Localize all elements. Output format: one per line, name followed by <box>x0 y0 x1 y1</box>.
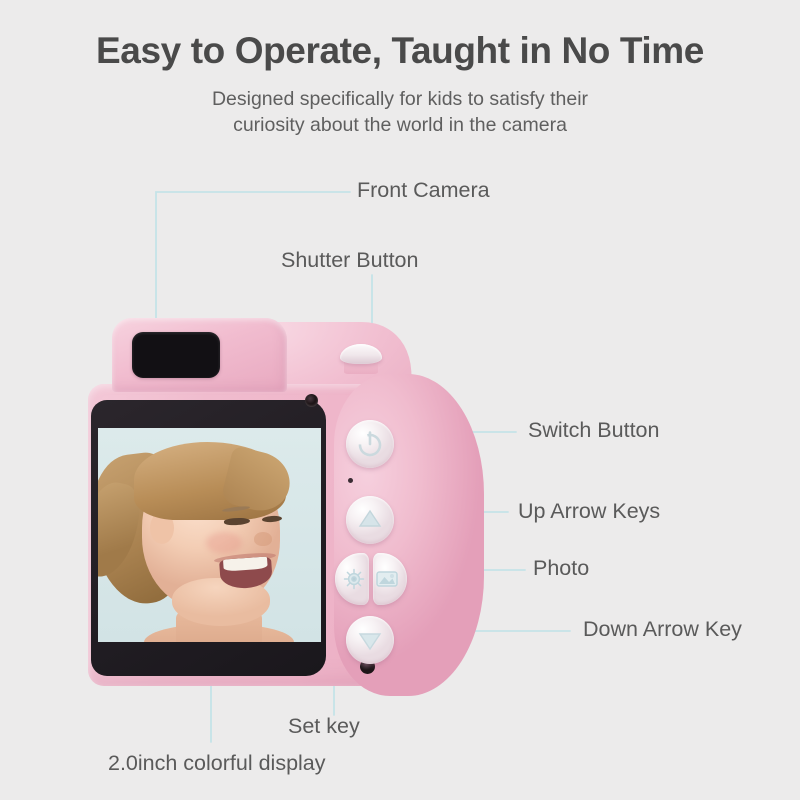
down-arrow-button[interactable] <box>346 616 394 664</box>
power-icon <box>346 420 394 468</box>
up-arrow-icon <box>346 496 394 544</box>
photo-button[interactable] <box>373 553 407 605</box>
callout-label-display: 2.0inch colorful display <box>108 751 326 776</box>
shutter-button[interactable] <box>340 344 382 364</box>
lcd-screen <box>98 428 321 642</box>
photo-nose <box>254 532 272 546</box>
down-arrow-icon <box>346 616 394 664</box>
callout-label-shutter-button: Shutter Button <box>281 248 418 273</box>
photo-cheek <box>206 532 242 554</box>
callout-label-switch-button: Switch Button <box>528 418 659 443</box>
switch-button[interactable] <box>346 420 394 468</box>
up-arrow-button[interactable] <box>346 496 394 544</box>
front-camera-lens-icon <box>132 332 220 378</box>
callout-label-photo: Photo <box>533 556 589 581</box>
callout-label-up-arrow-keys: Up Arrow Keys <box>518 499 660 524</box>
photo-teeth <box>223 557 268 572</box>
callout-label-set-key: Set key <box>288 714 360 739</box>
screw-icon-top <box>305 394 318 407</box>
set-key-button[interactable] <box>335 553 369 605</box>
microphone-icon <box>348 478 353 483</box>
kids-camera-illustration <box>88 300 478 700</box>
callout-label-down-arrow-key: Down Arrow Key <box>583 617 742 642</box>
gear-icon <box>335 553 369 605</box>
photo-icon <box>373 553 407 605</box>
callout-label-front-camera: Front Camera <box>357 178 490 203</box>
lcd-bezel <box>91 400 326 676</box>
